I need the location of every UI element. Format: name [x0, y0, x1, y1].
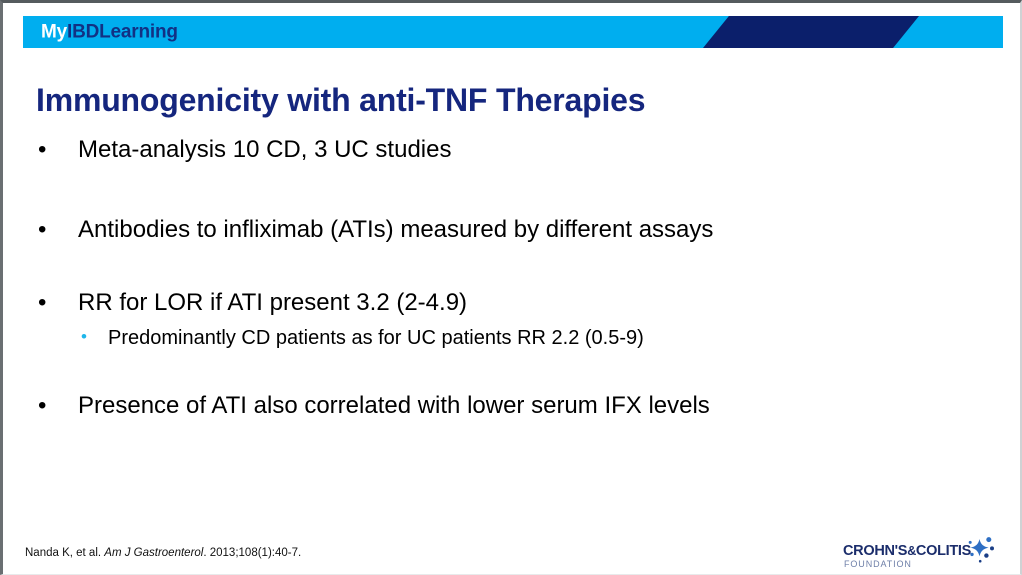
citation-details: . 2013;108(1):40-7.	[203, 547, 301, 559]
four-point-star-icon	[961, 535, 997, 567]
header-band-notch-shape	[703, 16, 919, 48]
bullet-item-1: • Meta-analysis 10 CD, 3 UC studies	[33, 136, 973, 164]
bullet-marker-icon: •	[38, 136, 46, 164]
bullet-item-3: • RR for LOR if ATI present 3.2 (2-4.9)	[33, 289, 973, 317]
foundation-ampersand: &	[907, 544, 916, 558]
bullet-marker-icon: •	[38, 216, 46, 244]
bullet-spacer	[33, 243, 973, 289]
bullet-text-4: Presence of ATI also correlated with low…	[78, 392, 710, 419]
bullet-text-1: Meta-analysis 10 CD, 3 UC studies	[78, 136, 451, 163]
bullet-text-3: RR for LOR if ATI present 3.2 (2-4.9)	[78, 289, 467, 316]
logo-text-learning: Learning	[99, 22, 178, 43]
logo-text-my: My	[41, 22, 67, 43]
bullet-spacer	[33, 164, 973, 216]
foundation-subtitle: FOUNDATION	[844, 559, 912, 569]
sub-bullet-item-1: • Predominantly CD patients as for UC pa…	[33, 326, 973, 350]
slide-citation: Nanda K, et al. Am J Gastroenterol. 2013…	[25, 547, 301, 559]
foundation-name-crohns: CROHN'S	[843, 543, 907, 559]
bullet-spacer	[33, 350, 973, 392]
myibdlearning-logo: MyIBDLearning	[41, 23, 178, 42]
slide-header-band: MyIBDLearning	[23, 16, 1003, 48]
slide-title: Immunogenicity with anti-TNF Therapies	[36, 82, 645, 119]
presentation-slide: MyIBDLearning Immunogenicity with anti-T…	[0, 0, 1022, 575]
citation-journal: Am J Gastroenterol	[104, 547, 203, 559]
sub-bullet-marker-icon: •	[81, 326, 87, 348]
foundation-wordmark: CROHN'S&COLITIS	[843, 543, 971, 559]
citation-authors: Nanda K, et al.	[25, 547, 104, 559]
bullet-marker-icon: •	[38, 289, 46, 317]
bullet-text-2: Antibodies to infliximab (ATIs) measured…	[78, 216, 713, 243]
bullet-spacer	[33, 317, 973, 326]
sub-bullet-text-1: Predominantly CD patients as for UC pati…	[108, 327, 644, 349]
bullet-item-4: • Presence of ATI also correlated with l…	[33, 392, 973, 420]
logo-text-ibd: IBD	[67, 22, 99, 43]
slide-body-bullet-list: • Meta-analysis 10 CD, 3 UC studies • An…	[33, 136, 973, 419]
bullet-marker-icon: •	[38, 392, 46, 420]
bullet-item-2: • Antibodies to infliximab (ATIs) measur…	[33, 216, 973, 244]
crohns-colitis-foundation-logo: CROHN'S&COLITIS FOUNDATION	[843, 541, 1013, 575]
